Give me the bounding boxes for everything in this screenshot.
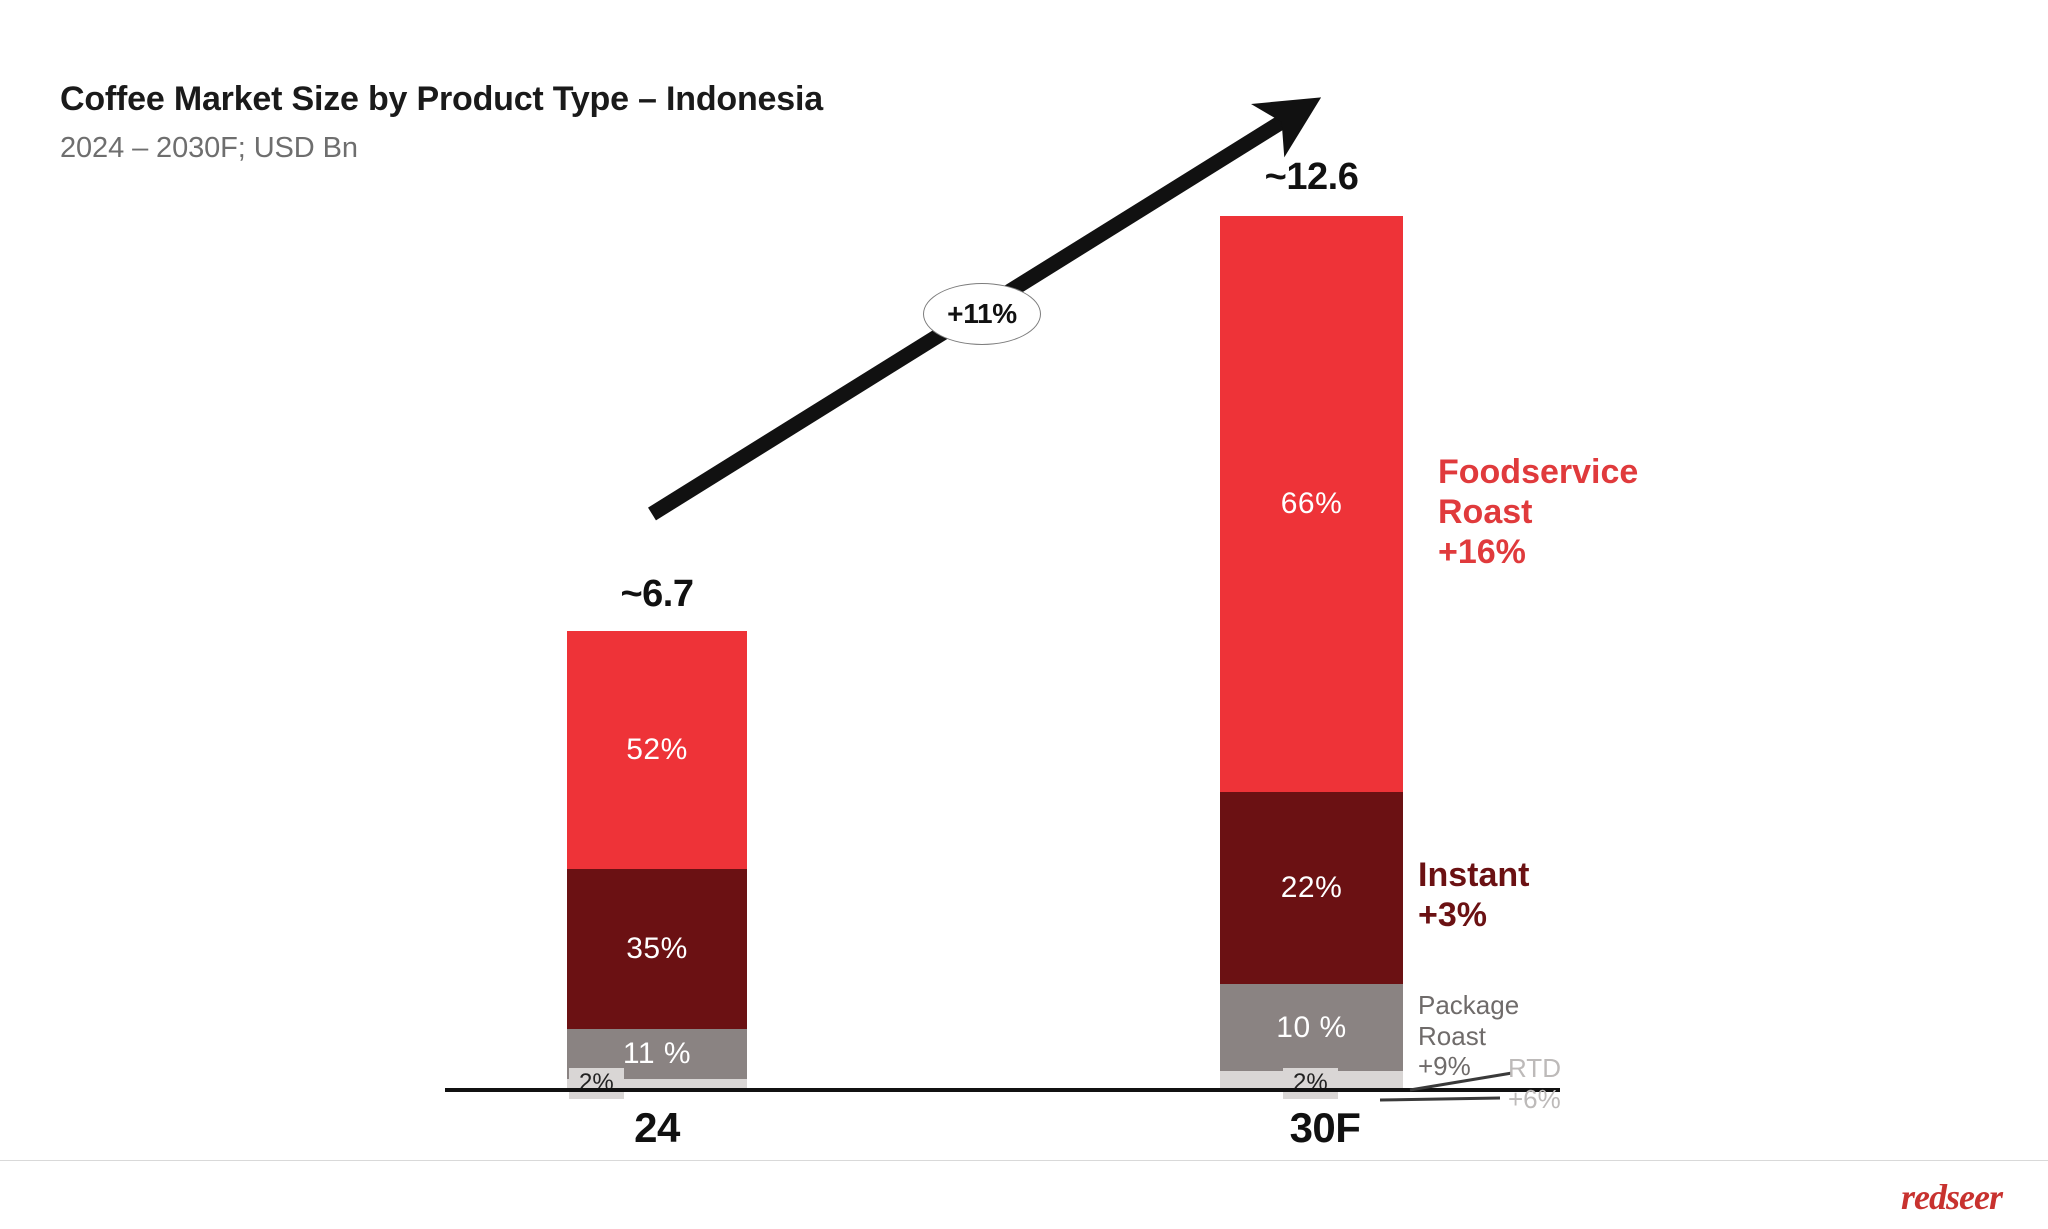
segment-label-foodservice-2030f: 66%: [1281, 489, 1343, 519]
legend-package-name-line1: Package: [1418, 990, 1519, 1021]
bar-total-2024: ~6.7: [567, 573, 747, 616]
segment-label-package-2030f: 10 %: [1276, 1013, 1346, 1043]
legend-foodservice-name-line2: Roast: [1438, 492, 1638, 532]
legend-rtd-growth: +6%: [1508, 1084, 1561, 1115]
growth-arrow-icon: [0, 0, 2048, 1229]
legend-rtd-name: RTD: [1508, 1053, 1561, 1084]
cagr-badge-label: +11%: [947, 298, 1017, 330]
segment-label-rtd-2030f: 2%: [1283, 1068, 1338, 1099]
legend-instant-growth: +3%: [1418, 895, 1529, 935]
x-axis-line: [445, 1088, 1560, 1092]
segment-instant-2030f[interactable]: 22%: [1220, 792, 1403, 984]
x-axis-label-2024: 24: [537, 1104, 777, 1152]
legend-item-rtd[interactable]: RTD +6%: [1508, 1053, 1561, 1114]
legend-item-instant[interactable]: Instant +3%: [1418, 855, 1529, 935]
bar-total-2030f: ~12.6: [1220, 156, 1403, 199]
segment-package-2030f[interactable]: 10 %: [1220, 984, 1403, 1071]
legend-item-package[interactable]: Package Roast +9%: [1418, 990, 1519, 1082]
legend-item-foodservice[interactable]: Foodservice Roast +16%: [1438, 452, 1638, 572]
legend-package-growth: +9%: [1418, 1051, 1519, 1082]
segment-instant-2024[interactable]: 35%: [567, 869, 747, 1029]
x-axis-label-2030f: 30F: [1205, 1104, 1445, 1152]
footer-divider: [0, 1160, 2048, 1161]
chart-canvas: Coffee Market Size by Product Type – Ind…: [0, 0, 2048, 1229]
page-subtitle: 2024 – 2030F; USD Bn: [60, 132, 358, 165]
segment-label-foodservice-2024: 52%: [626, 735, 688, 765]
bar-2024[interactable]: ~6.7 52% 35% 11 %: [567, 631, 747, 1088]
legend-foodservice-growth: +16%: [1438, 532, 1638, 572]
legend-foodservice-name-line1: Foodservice: [1438, 452, 1638, 492]
segment-label-instant-2030f: 22%: [1281, 873, 1343, 903]
segment-label-rtd-2024: 2%: [569, 1068, 624, 1099]
redseer-logo: redseer: [1901, 1176, 2002, 1218]
cagr-badge: +11%: [923, 283, 1041, 345]
legend-instant-name: Instant: [1418, 855, 1529, 895]
bar-2030f[interactable]: ~12.6 66% 22% 10 %: [1220, 216, 1403, 1088]
legend-package-name-line2: Roast: [1418, 1021, 1519, 1052]
segment-label-instant-2024: 35%: [626, 934, 688, 964]
segment-label-package-2024: 11 %: [623, 1039, 691, 1069]
segment-foodservice-2024[interactable]: 52%: [567, 631, 747, 869]
page-title: Coffee Market Size by Product Type – Ind…: [60, 80, 823, 119]
legend-leader-lines: [0, 0, 2048, 1229]
segment-foodservice-2030f[interactable]: 66%: [1220, 216, 1403, 792]
